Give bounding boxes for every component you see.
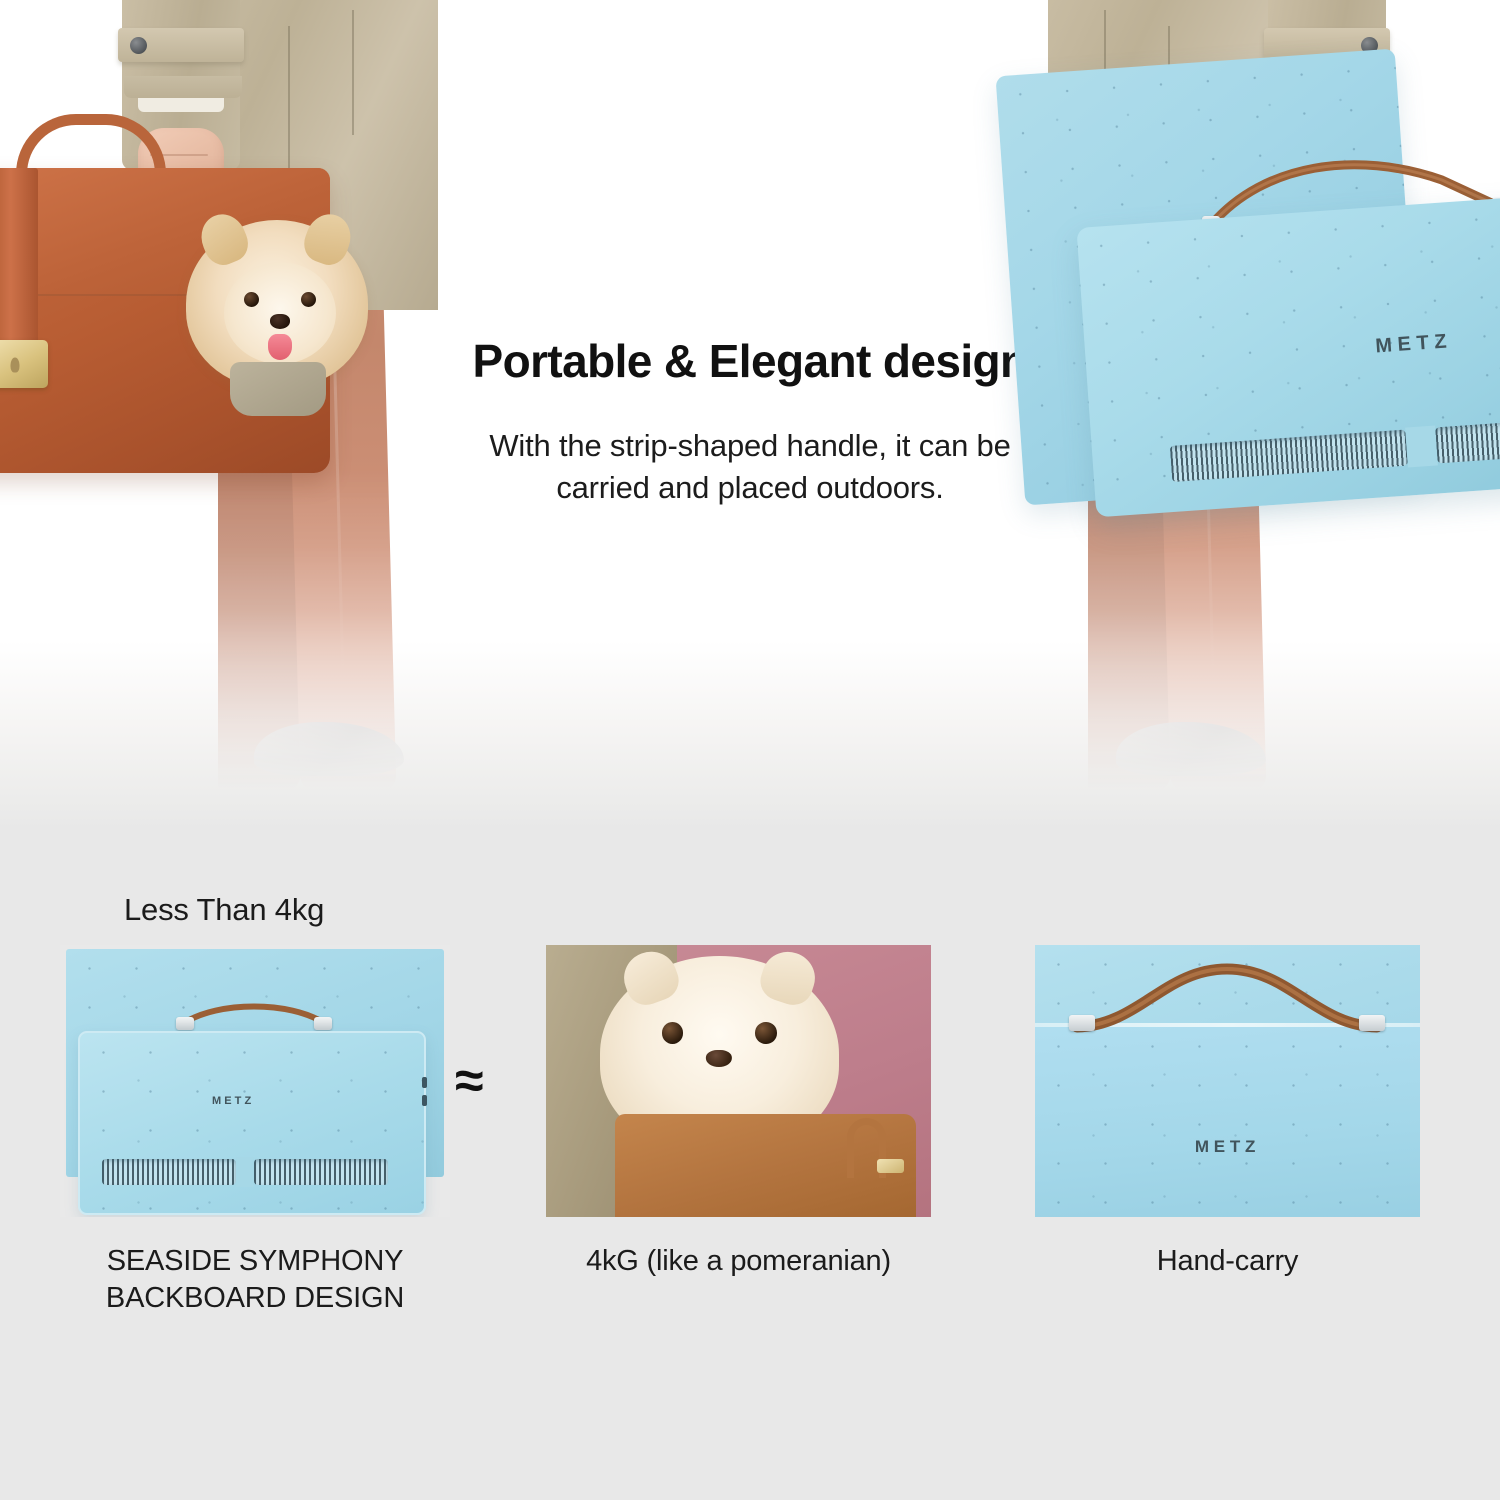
card-weight: 4kG (like a pomeranian) bbox=[546, 945, 931, 1217]
comparison-cards: METZ SEASIDE SYMPHONY BACKBOARD DESIGN ≈ bbox=[0, 945, 1500, 1375]
monitor-back-panel: METZ bbox=[78, 1031, 426, 1215]
dog-nose bbox=[270, 314, 290, 329]
card-weight-photo bbox=[546, 945, 931, 1217]
page-title: Portable & Elegant design bbox=[390, 336, 1110, 387]
dog-eye-right bbox=[755, 1022, 776, 1044]
speckle-texture bbox=[1035, 1027, 1420, 1217]
caption-line-1: 4kG (like a pomeranian) bbox=[546, 1243, 931, 1280]
pomeranian-in-briefcase bbox=[186, 210, 368, 395]
monitor-vent-right bbox=[254, 1159, 388, 1185]
strap-anchor-right bbox=[314, 1017, 332, 1030]
dog-eye-right bbox=[301, 292, 316, 307]
dog-eye-left bbox=[662, 1022, 683, 1044]
shirt-cuff-left bbox=[138, 98, 224, 112]
monitor-vent-left bbox=[1170, 430, 1408, 482]
card-backboard: METZ SEASIDE SYMPHONY BACKBOARD DESIGN bbox=[60, 945, 450, 1217]
comparison-strip: Less Than 4kg bbox=[0, 830, 1500, 1500]
hero-subtitle-line-2: carried and placed outdoors. bbox=[390, 467, 1110, 510]
card-weight-caption: 4kG (like a pomeranian) bbox=[546, 1243, 931, 1280]
dog-tongue bbox=[268, 334, 292, 360]
dog-nose bbox=[706, 1050, 732, 1068]
monitor-port-lower bbox=[422, 1095, 427, 1106]
card-handcarry-figure: METZ bbox=[1035, 945, 1420, 1217]
coat-cuff-left bbox=[118, 28, 244, 62]
caption-line-1: SEASIDE SYMPHONY bbox=[60, 1243, 450, 1280]
briefcase-lock bbox=[0, 340, 48, 388]
monitor-vent-left bbox=[102, 1159, 236, 1185]
caption-line-1: Hand-carry bbox=[1035, 1243, 1420, 1280]
leather-handbag bbox=[615, 1114, 915, 1217]
strap-anchor-left bbox=[176, 1017, 194, 1030]
dog-eye-left bbox=[244, 292, 259, 307]
weight-kicker-label: Less Than 4kg bbox=[124, 892, 324, 928]
strap-anchor-right bbox=[1359, 1015, 1385, 1031]
metz-logo-hero: METZ bbox=[1375, 330, 1453, 358]
handbag-clasp bbox=[877, 1159, 904, 1173]
monitor-strap-handle-card bbox=[178, 999, 330, 1027]
approximately-equal-symbol: ≈ bbox=[455, 1055, 484, 1107]
monitor-vent-divider bbox=[236, 1157, 254, 1187]
hero-section: Portable & Elegant design With the strip… bbox=[0, 0, 1500, 810]
dog-harness bbox=[230, 362, 326, 416]
strap-anchor-left bbox=[1069, 1015, 1095, 1031]
card-backboard-caption: SEASIDE SYMPHONY BACKBOARD DESIGN bbox=[60, 1243, 450, 1316]
card-backboard-figure: METZ bbox=[60, 945, 450, 1217]
card-handcarry-caption: Hand-carry bbox=[1035, 1243, 1420, 1280]
card-handcarry: METZ Hand-carry bbox=[1035, 945, 1420, 1217]
monitor-vent-right bbox=[1435, 420, 1500, 463]
hero-subtitle: With the strip-shaped handle, it can be … bbox=[390, 425, 1110, 511]
metz-logo-card-backboard: METZ bbox=[212, 1095, 254, 1107]
monitor-vent-divider bbox=[1405, 426, 1438, 468]
strap-handle-closeup bbox=[1069, 953, 1385, 1033]
portable-monitor-body: METZ bbox=[1076, 197, 1500, 518]
monitor-back-surface: METZ bbox=[1035, 1027, 1420, 1217]
hero-subtitle-line-1: With the strip-shaped handle, it can be bbox=[390, 425, 1110, 468]
cuff-hem-left bbox=[124, 76, 242, 98]
coat-button-left bbox=[130, 37, 147, 54]
hero-copy-block: Portable & Elegant design With the strip… bbox=[390, 336, 1110, 510]
hero-figure-monitor: METZ bbox=[1010, 0, 1500, 810]
caption-line-2: BACKBOARD DESIGN bbox=[60, 1280, 450, 1317]
product-marketing-page: Portable & Elegant design With the strip… bbox=[0, 0, 1500, 1500]
monitor-port-upper bbox=[422, 1077, 427, 1088]
dog-face bbox=[224, 262, 336, 364]
metz-logo-card-handcarry: METZ bbox=[1195, 1137, 1260, 1157]
